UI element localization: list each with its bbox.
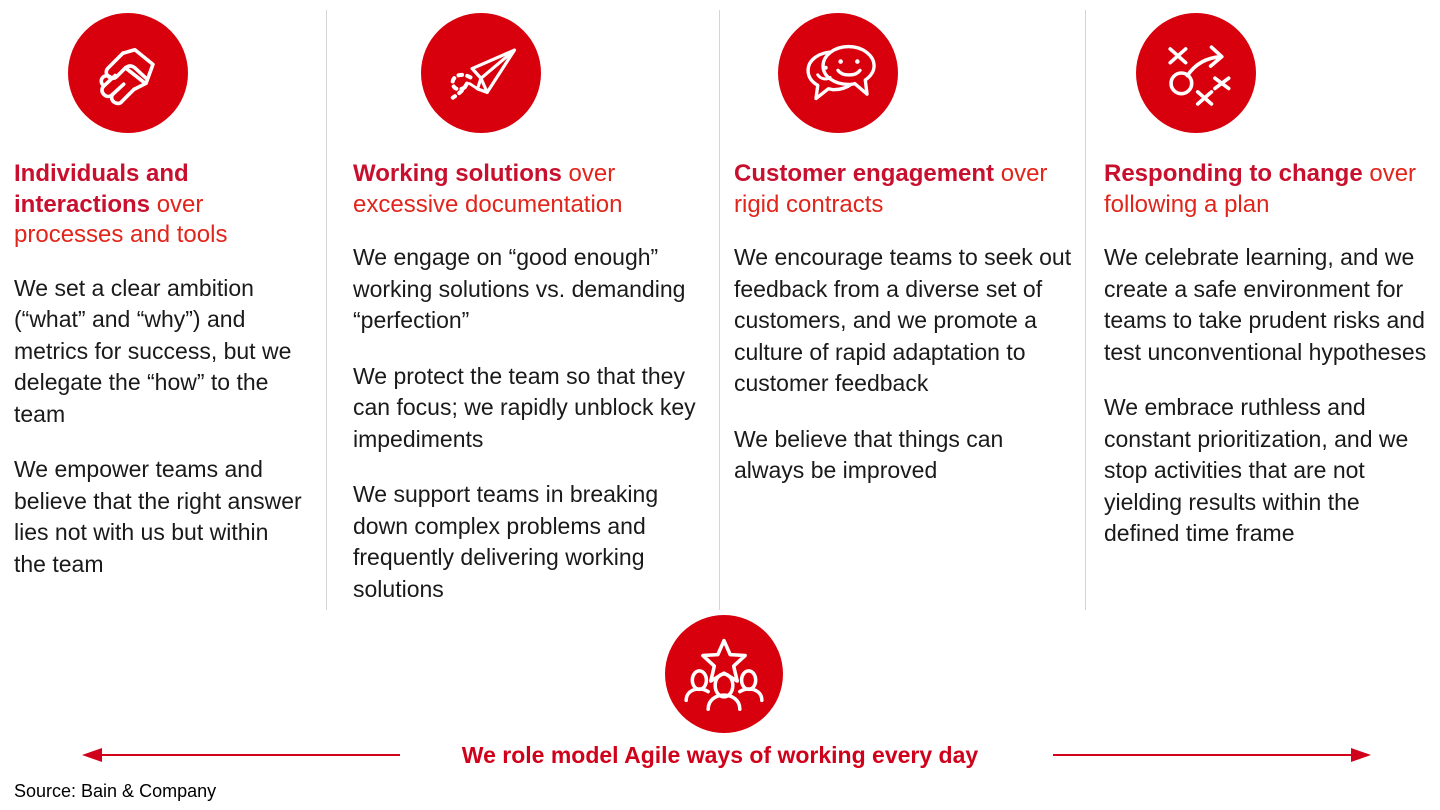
principle-paragraph: We engage on “good enough” working solut… xyxy=(353,242,700,337)
principle-paragraph: We encourage teams to seek out feedback … xyxy=(734,242,1072,400)
principles-columns: Individuals and interactions over proces… xyxy=(0,0,1440,615)
arrow-right-icon xyxy=(1053,754,1353,756)
principle-column-individuals-and-interactions: Individuals and interactions over proces… xyxy=(0,0,327,615)
principle-heading: Individuals and interactions over proces… xyxy=(14,159,305,251)
speech-bubbles-smiley-icon xyxy=(778,13,898,133)
principle-paragraph: We protect the team so that they can foc… xyxy=(353,361,700,456)
slide-canvas: Individuals and interactions over proces… xyxy=(0,0,1440,810)
principle-heading-bold: Responding to change xyxy=(1104,160,1363,187)
principle-paragraph: We empower teams and believe that the ri… xyxy=(14,454,305,580)
principle-column-working-solutions: Working solutions over excessive documen… xyxy=(327,0,720,615)
principle-column-customer-engagement: Customer engagement over rigid contracts… xyxy=(720,0,1086,615)
principle-heading-bold: Working solutions xyxy=(353,160,562,187)
principle-column-responding-to-change: Responding to change over following a pl… xyxy=(1086,0,1440,615)
team-star-icon xyxy=(665,615,783,733)
principle-heading: Responding to change over following a pl… xyxy=(1104,159,1434,220)
principle-paragraph: We support teams in breaking down comple… xyxy=(353,479,700,605)
principle-heading: Working solutions over excessive documen… xyxy=(353,159,700,220)
strategy-playbook-icon xyxy=(1136,13,1256,133)
principle-body: We encourage teams to seek out feedback … xyxy=(734,242,1072,487)
source-note: Source: Bain & Company xyxy=(14,780,216,802)
bottom-banner: We role model Agile ways of working ever… xyxy=(0,735,1440,775)
principle-heading-bold: Customer engagement xyxy=(734,160,994,187)
principle-paragraph: We embrace ruthless and constant priorit… xyxy=(1104,392,1434,550)
principle-paragraph: We set a clear ambition (“what” and “why… xyxy=(14,273,305,431)
principle-body: We set a clear ambition (“what” and “why… xyxy=(14,273,305,581)
principle-body: We celebrate learning, and we create a s… xyxy=(1104,242,1434,550)
principle-heading: Customer engagement over rigid contracts xyxy=(734,159,1072,220)
principle-paragraph: We celebrate learning, and we create a s… xyxy=(1104,242,1434,368)
principle-paragraph: We believe that things can always be imp… xyxy=(734,424,1072,487)
arrow-right-head xyxy=(1351,748,1371,762)
handshake-icon xyxy=(68,13,188,133)
arrow-right-line xyxy=(1053,754,1353,756)
principle-body: We engage on “good enough” working solut… xyxy=(353,242,700,605)
paper-plane-icon xyxy=(421,13,541,133)
